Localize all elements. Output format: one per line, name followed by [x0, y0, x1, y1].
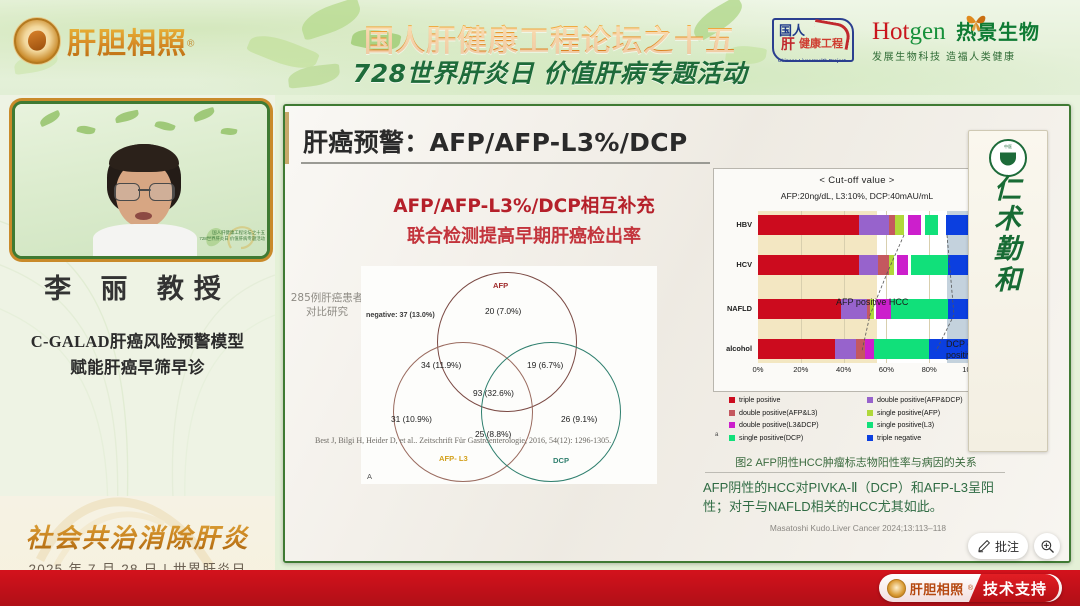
zoom-button[interactable]	[1034, 533, 1060, 559]
legend-swatch	[729, 410, 735, 416]
left-sidebar: 国人肝健康工程论坛之十五 728世界肝炎日 价值肝病专题活动 李 丽 教授 C-…	[0, 95, 275, 606]
campaign-slogan: 社会共治消除肝炎	[0, 518, 275, 555]
venn-value-triple: 93 (32.6%)	[473, 388, 514, 398]
y-tick-alcohol: alcohol	[726, 344, 752, 353]
glasses-icon	[114, 183, 175, 199]
title-accent-bar	[285, 112, 289, 164]
bar-segment	[897, 255, 908, 275]
figure-caption: 图2 AFP阴性HCC肿瘤标志物阳性率与病因的关系	[703, 454, 1009, 470]
venn-negative-label: negative: 37 (13.0%)	[366, 310, 435, 319]
bar-segment	[758, 299, 841, 319]
bar-segment	[835, 339, 856, 359]
venn-diagram: negative: 37 (13.0%) AFP AFP- L3 DCP 20 …	[361, 266, 657, 484]
venn-value-afp-dcp: 19 (6.7%)	[527, 360, 563, 370]
clhp-logo-frame: 国人 肝 健康工程	[772, 18, 854, 62]
speaker-video[interactable]: 国人肝健康工程论坛之十五 728世界肝炎日 价值肝病专题活动	[12, 101, 270, 259]
legend-label: single positive(L3)	[877, 421, 934, 429]
bar-segment	[925, 215, 938, 235]
cases-note: 285例肝癌患者对比研究	[288, 291, 366, 319]
legend-label: triple negative	[877, 434, 921, 442]
china-liver-health-project-logo: 国人 肝 健康工程 Chinese Liver Health Project	[772, 18, 854, 70]
legend-swatch	[729, 435, 735, 441]
chart-x-axis: 0% 20% 40% 60% 80% 100%	[758, 365, 972, 379]
calligraphy-text: 仁术勤和	[969, 175, 1047, 296]
chart-citation: Masatoshi Kudo.Liver Cancer 2024;13:113–…	[703, 523, 1013, 533]
speaker-mouth	[135, 212, 152, 220]
video-watermark-text: 国人肝健康工程论坛之十五 728世界肝炎日 价值肝病专题活动	[199, 230, 265, 242]
venn-label-afp-l3: AFP- L3	[439, 454, 468, 463]
bottom-brand: 肝胆相照®	[883, 579, 981, 598]
legend-swatch	[867, 397, 873, 403]
y-tick-nafld: NAFLD	[727, 304, 752, 313]
y-tick-hcv: HCV	[736, 260, 752, 269]
speaker-name: 李 丽 教授	[0, 267, 275, 306]
x-tick: 0%	[753, 365, 764, 374]
presentation-slide[interactable]: 肝癌预警：AFP/AFP-L3%/DCP AFP/AFP-L3%/DCP相互补充…	[283, 104, 1071, 563]
clhp-gan-char: 肝	[781, 37, 795, 51]
banner-subtitle: 728世界肝炎日 价值肝病专题活动	[330, 54, 770, 90]
hotgen-logo: Hotgen 热景生物 发展生物科技 造福人类健康	[872, 16, 1072, 63]
bar-segment	[856, 339, 865, 359]
clhp-english-name: Chinese Liver Health Project	[778, 58, 846, 63]
hotgen-word-hot: Hot	[872, 18, 910, 45]
brand-name: 肝胆相照	[67, 26, 187, 60]
tech-support-label: 技术支持	[969, 574, 1059, 602]
bar-row-hcv: HCV	[758, 255, 972, 275]
hotgen-word-gen: gen	[910, 18, 946, 45]
top-banner: 肝胆相照® 国人肝健康工程论坛之十五 728世界肝炎日 价值肝病专题活动 国人 …	[0, 0, 1080, 95]
legend-item: triple positive	[729, 394, 869, 407]
magnify-plus-icon	[1040, 539, 1055, 554]
bar-segment	[938, 215, 947, 235]
liver-seal-icon	[887, 579, 906, 598]
bar-segment	[758, 339, 835, 359]
talk-title-line-2: 赋能肝癌早筛早诊	[0, 355, 275, 381]
legend-item: single positive(DCP)	[729, 432, 869, 445]
venn-label-dcp: DCP	[553, 456, 569, 465]
bar-segment	[859, 255, 878, 275]
legend-label: single positive(DCP)	[739, 434, 803, 442]
slide-headline-1: AFP/AFP-L3%/DCP相互补充	[369, 192, 679, 218]
slide-title: 肝癌预警：AFP/AFP-L3%/DCP	[303, 123, 688, 159]
bar-segment	[908, 215, 921, 235]
chart-subtitle: AFP:20ng/dL, L3:10%, DCP:40mAU/mL	[714, 191, 1000, 201]
venn-citation: Best J, Bilgi H, Heider D, et al.. Zeits…	[315, 436, 611, 445]
annotate-label: 批注	[995, 538, 1019, 555]
legend-swatch	[729, 422, 735, 428]
bar-segment	[859, 215, 889, 235]
seal-text: 中医	[1004, 144, 1012, 150]
speaker-shirt	[93, 224, 197, 259]
annotation-afp-positive: AFP positive HCC	[836, 297, 908, 308]
x-tick: 60%	[879, 365, 894, 374]
bottom-bar: 肝胆相照® 技术支持	[0, 570, 1080, 606]
legend-label: double positive(AFP&DCP)	[877, 396, 963, 404]
talk-title: C-GALAD肝癌风险预警模型 赋能肝癌早筛早诊	[0, 329, 275, 380]
legend-label: double positive(L3&DCP)	[739, 421, 819, 429]
calligraphy-scroll: 中医 仁术勤和	[968, 130, 1048, 452]
caption-body: AFP阴性的HCC对PIVKA-Ⅱ（DCP）和AFP-L3呈阳性；对于与NAFL…	[703, 479, 1013, 517]
caption-divider	[705, 472, 1005, 473]
bar-segment	[895, 215, 904, 235]
hotgen-tagline: 发展生物科技 造福人类健康	[872, 48, 1072, 63]
chart-legend: a triple positive double positive(AFP&L3…	[715, 394, 997, 444]
stacked-bar-chart: < Cut-off value > AFP:20ng/dL, L3:10%, D…	[713, 168, 1001, 392]
venn-value-afp-only: 20 (7.0%)	[485, 306, 521, 316]
slide-area: 肝癌预警：AFP/AFP-L3%/DCP AFP/AFP-L3%/DCP相互补充…	[275, 95, 1080, 576]
slide-headline-2: 联合检测提高早期肝癌检出率	[369, 222, 679, 248]
brand-trademark: ®	[187, 39, 194, 50]
legend-swatch	[729, 397, 735, 403]
title-underline	[301, 162, 710, 164]
chart-plot-area: HBV HCV	[758, 211, 972, 363]
bar-segment	[758, 215, 859, 235]
liver-seal-icon	[14, 18, 60, 64]
legend-item: double positive(AFP&L3)	[729, 407, 869, 420]
bottom-brand-name: 肝胆相照	[910, 579, 964, 598]
bar-segment	[758, 255, 859, 275]
x-tick: 40%	[836, 365, 851, 374]
venn-value-dcp-only: 26 (9.1%)	[561, 414, 597, 424]
y-tick-hbv: HBV	[736, 220, 752, 229]
legend-label: single positive(AFP)	[877, 409, 940, 417]
legend-swatch	[867, 422, 873, 428]
x-tick: 20%	[793, 365, 808, 374]
bar-row-alcohol: alcohol	[758, 339, 972, 359]
legend-label: triple positive	[739, 396, 780, 404]
bar-row-hbv: HBV	[758, 215, 972, 235]
brand-logo: 肝胆相照®	[14, 18, 194, 64]
slide-controls: 批注	[968, 533, 1060, 559]
venn-panel-letter: A	[367, 472, 372, 481]
bar-segment	[911, 255, 948, 275]
legend-column-left: triple positive double positive(AFP&L3) …	[729, 394, 869, 444]
bar-segment	[878, 255, 889, 275]
legend-swatch	[867, 435, 873, 441]
legend-item: double positive(L3&DCP)	[729, 419, 869, 432]
chart-title: < Cut-off value >	[714, 175, 1000, 186]
venn-label-afp: AFP	[493, 281, 508, 290]
butterfly-icon	[964, 12, 988, 32]
pen-icon	[977, 539, 991, 553]
x-tick: 80%	[922, 365, 937, 374]
legend-swatch	[867, 410, 873, 416]
legend-panel-letter: a	[715, 432, 718, 438]
legend-label: double positive(AFP&L3)	[739, 409, 817, 417]
annotate-button[interactable]: 批注	[968, 533, 1028, 559]
bar-segment	[874, 339, 930, 359]
app-root: 肝胆相照® 国人肝健康工程论坛之十五 728世界肝炎日 价值肝病专题活动 国人 …	[0, 0, 1080, 606]
tech-support-badge[interactable]: 肝胆相照® 技术支持	[879, 574, 1062, 602]
bar-segment	[865, 339, 874, 359]
hospital-seal-icon: 中医	[989, 139, 1027, 177]
venn-value-l3-only: 31 (10.9%)	[391, 414, 432, 424]
bottom-brand-trademark: ®	[968, 585, 973, 592]
talk-title-line-1: C-GALAD肝癌风险预警模型	[0, 329, 275, 355]
venn-value-afp-l3: 34 (11.9%)	[421, 360, 461, 370]
